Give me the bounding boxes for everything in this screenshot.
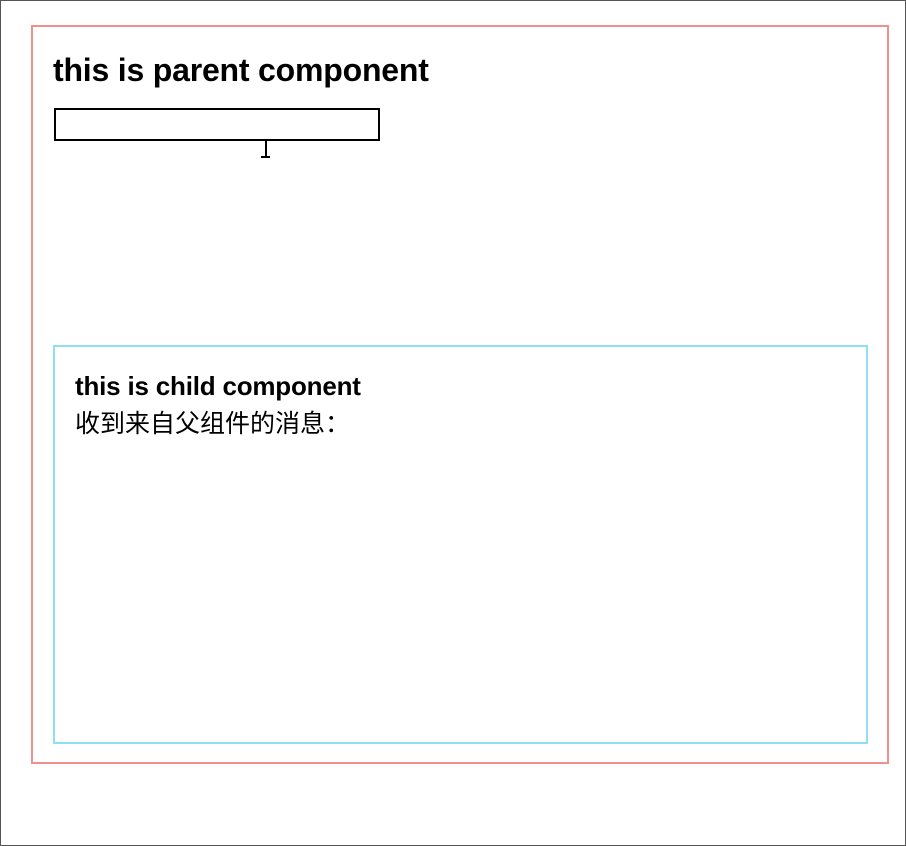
page-viewport: this is parent component this is child c…	[0, 0, 906, 846]
parent-message-input[interactable]	[54, 108, 380, 141]
child-received-message-line: 收到来自父组件的消息：	[75, 409, 350, 440]
message-input-wrapper	[54, 108, 380, 141]
ibeam-bottom-bar	[261, 156, 270, 158]
child-received-message-label: 收到来自父组件的消息：	[75, 410, 350, 438]
ibeam-stem	[265, 141, 267, 157]
child-component-title: this is child component	[75, 372, 361, 401]
child-component-container: this is child component 收到来自父组件的消息：	[53, 345, 868, 744]
parent-component-title: this is parent component	[53, 53, 429, 88]
text-ibeam-cursor-icon	[261, 139, 270, 159]
parent-component-container: this is parent component this is child c…	[31, 25, 889, 764]
